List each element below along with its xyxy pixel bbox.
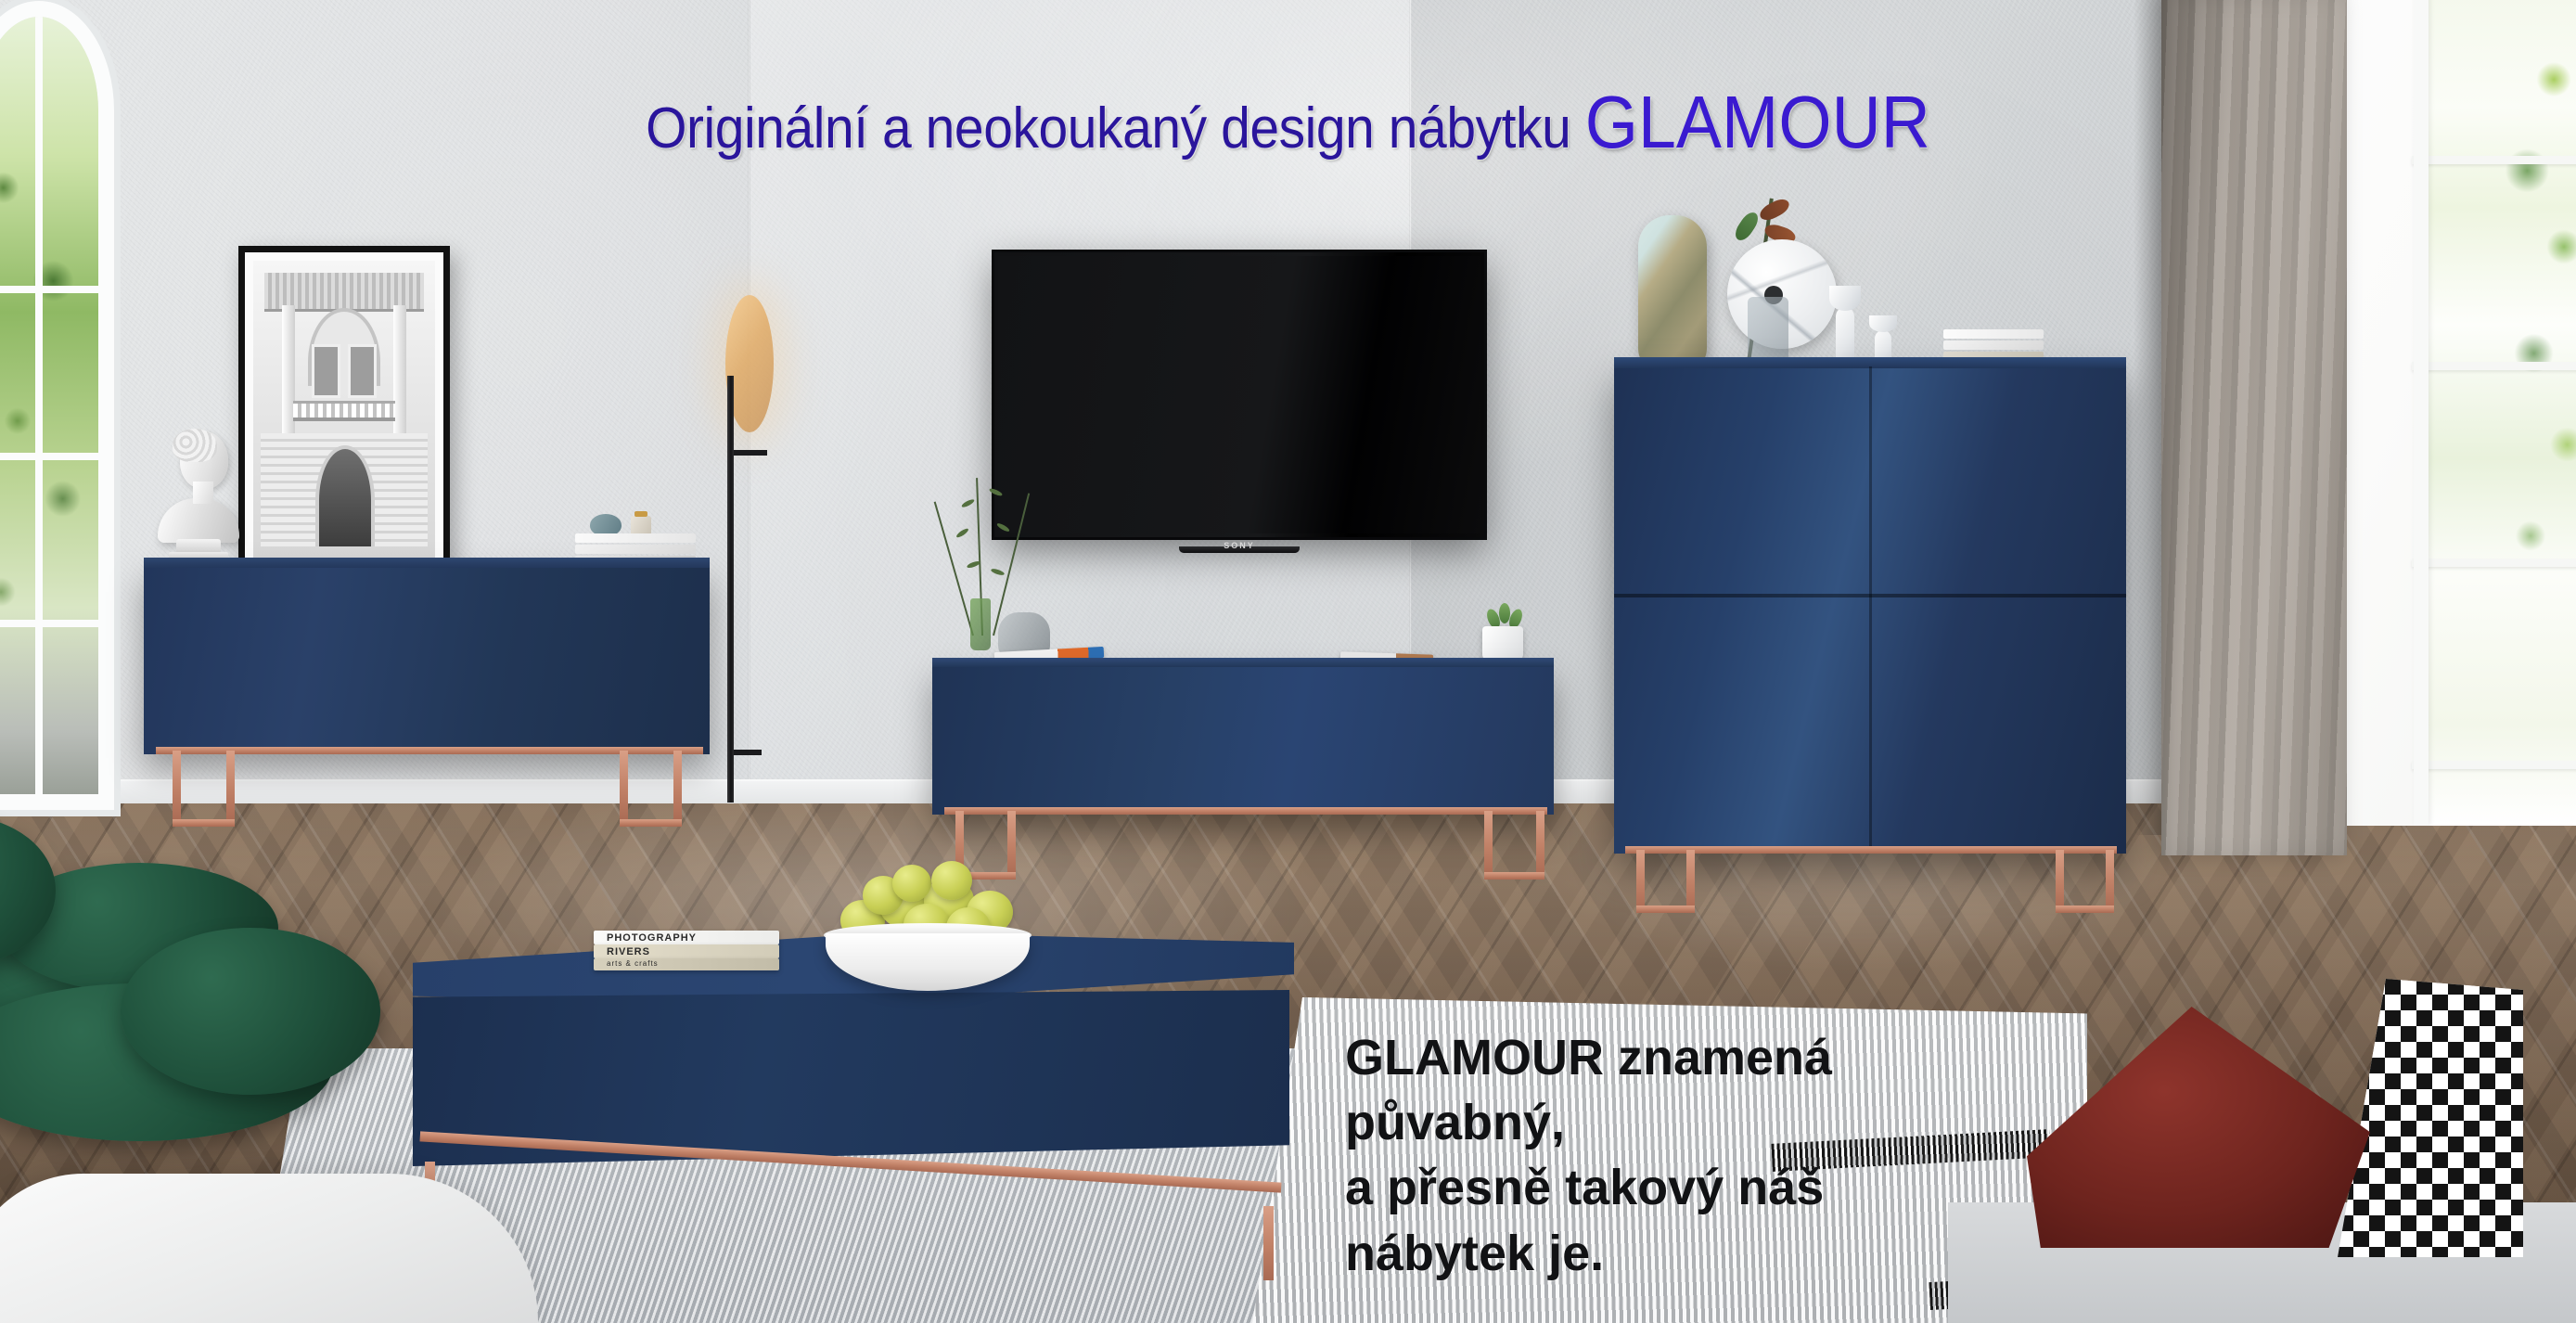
- window-foliage-icon: [0, 17, 98, 794]
- sideboard-left[interactable]: [144, 566, 710, 754]
- classical-facade-print-icon: [253, 261, 435, 559]
- caption-line-2: půvabný,: [1345, 1090, 2050, 1155]
- sideboard-left-legs: [156, 747, 703, 826]
- wall-art-mat: [245, 252, 443, 567]
- ceramic-floor-vase: [1638, 215, 1707, 371]
- green-boucle-armchair[interactable]: [0, 872, 408, 1169]
- caption-line-4: nábytek je.: [1345, 1221, 2050, 1286]
- caption-block: GLAMOUR znamená půvabný, a přesně takový…: [1345, 1025, 2050, 1286]
- green-glass-vase: [970, 598, 991, 650]
- book-title-rivers: RIVERS: [607, 946, 650, 957]
- television[interactable]: SONY: [994, 252, 1484, 537]
- floor-lamp-arm-upper: [734, 450, 767, 456]
- tall-cabinet[interactable]: [1614, 366, 2126, 854]
- headline: Originální a neokoukaný design nábytku G…: [103, 85, 2473, 160]
- book-title-arts-crafts: arts & crafts: [607, 959, 659, 968]
- wall-art-frame: [238, 246, 450, 573]
- book-title-photography: PHOTOGRAPHY: [607, 932, 697, 944]
- classical-bust-sculpture: [154, 431, 243, 571]
- coffee-table-book-stack: PHOTOGRAPHY RIVERS arts & crafts: [594, 931, 779, 973]
- succulent-pot: [1482, 626, 1523, 661]
- caption-line-3: a přesně takový náš: [1345, 1155, 2050, 1220]
- floor-lamp-pole: [727, 376, 734, 803]
- tv-screen: [998, 256, 1480, 533]
- interior-scene: SONY: [0, 0, 2576, 1323]
- headline-brand: GLAMOUR: [1585, 81, 1930, 163]
- floor-lamp-arm-lower: [734, 750, 762, 755]
- caption-line-1: GLAMOUR znamená: [1345, 1025, 2050, 1090]
- arched-window-left: [0, 17, 98, 794]
- headline-lead: Originální a neokoukaný design nábytku: [646, 96, 1585, 161]
- tv-unit[interactable]: [932, 666, 1554, 815]
- tv-brand-label: SONY: [1224, 541, 1255, 550]
- white-sofa[interactable]: [0, 1174, 538, 1323]
